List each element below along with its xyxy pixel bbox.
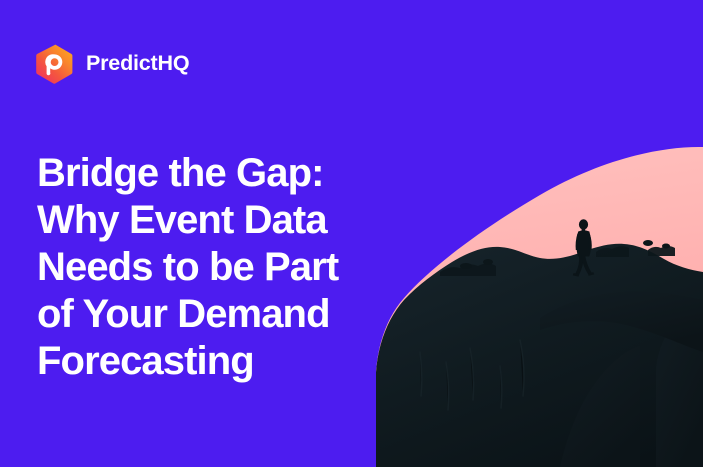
social-share-card: PredictHQ Bridge the Gap: Why Event Data… [0, 0, 703, 467]
brand-lockup[interactable]: PredictHQ [36, 44, 189, 84]
headline-line-1: Bridge the Gap: [37, 150, 437, 197]
page-title: Bridge the Gap: Why Event Data Needs to … [37, 150, 437, 385]
headline-line-4: of Your Demand [37, 291, 437, 338]
headline-line-5: Forecasting [37, 338, 437, 385]
headline-line-2: Why Event Data [37, 197, 437, 244]
headline-line-3: Needs to be Part [37, 244, 437, 291]
predicthq-logo-icon [36, 44, 73, 84]
brand-name: PredictHQ [86, 53, 189, 75]
